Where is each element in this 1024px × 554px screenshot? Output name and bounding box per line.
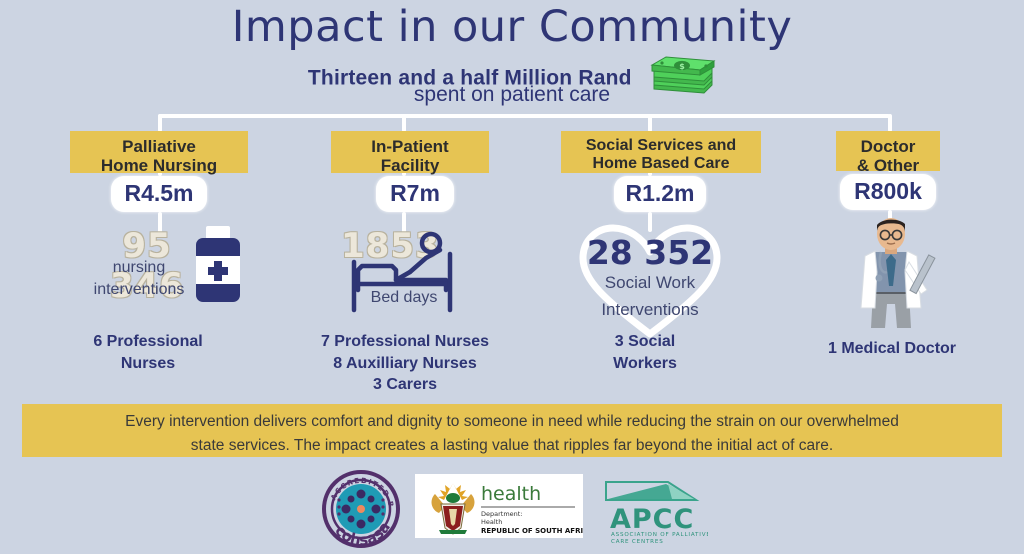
category-label-line2: Facility: [337, 156, 483, 175]
staff-palliative-home-nursing: 6 Professional Nurses: [48, 331, 248, 374]
category-label-line2: Home Nursing: [76, 156, 242, 175]
stat-caption-social-line2: Interventions: [566, 299, 734, 320]
staff-line-3: 3 Carers: [282, 374, 528, 396]
staff-in-patient-facility: 7 Professional Nurses 8 Auxilliary Nurse…: [282, 331, 528, 396]
category-box-social-services[interactable]: Social Services and Home Based Care: [561, 131, 761, 173]
staff-social-services: 3 Social Workers: [565, 331, 725, 374]
staff-line-1: 3 Social: [565, 331, 725, 353]
category-label-line1: In-Patient: [337, 137, 483, 156]
connector-drop-1: [158, 114, 162, 132]
staff-doctor-and-other: 1 Medical Doctor: [800, 338, 984, 360]
medicine-bottle-icon: [190, 226, 246, 313]
apcc-logo: APCC ASSOCIATION OF PALLIATIVE CARE CENT…: [600, 472, 708, 549]
amount-pill-in-patient-facility[interactable]: R7m: [376, 176, 454, 212]
staff-line-1: 1 Medical Doctor: [800, 338, 984, 360]
category-label-line1: Social Services and: [567, 137, 755, 155]
health-line1: Department:: [481, 510, 523, 518]
doctor-illustration-icon: [843, 216, 939, 337]
category-label-line1: Palliative: [76, 137, 242, 156]
amount-pill-doctor-and-other[interactable]: R800k: [840, 174, 936, 210]
sa-department-of-health-logo: health Department: Health REPUBLIC OF SO…: [415, 474, 583, 538]
staff-line-2: 8 Auxilliary Nurses: [282, 353, 528, 375]
stat-caption-nursing-line1: nursing: [72, 258, 206, 278]
health-line3: REPUBLIC OF SOUTH AFRICA: [481, 527, 583, 535]
health-line2: Health: [481, 518, 502, 526]
amount-pill-palliative-home-nursing[interactable]: R4.5m: [111, 176, 207, 212]
subtitle-purpose-text: spent on patient care: [0, 83, 1024, 107]
svg-text:$: $: [679, 62, 685, 71]
banner-line-2: state services. The impact creates a las…: [48, 434, 976, 458]
stat-number-social-work-interventions: 28 352: [578, 233, 722, 272]
connector-drop-3: [648, 114, 652, 132]
logo-row: ACCREDITED BY cohsasa: [0, 466, 1024, 551]
category-label-line2: & Other: [842, 156, 934, 175]
banner-line-1: Every intervention delivers comfort and …: [48, 410, 976, 434]
category-label-line2: Home Based Care: [567, 155, 755, 173]
stat-caption-social-line1: Social Work: [570, 272, 730, 293]
category-label-line1: Doctor: [842, 137, 934, 156]
impact-statement-banner: Every intervention delivers comfort and …: [22, 404, 1002, 457]
page-title: Impact in our Community: [0, 2, 1024, 52]
apcc-line2: CARE CENTRES: [611, 539, 664, 544]
staff-line-2: Workers: [565, 353, 725, 375]
category-box-palliative-home-nursing[interactable]: Palliative Home Nursing: [70, 131, 248, 173]
connector-drop-4: [888, 114, 892, 132]
apcc-word: APCC: [610, 504, 694, 535]
cohsasa-accreditation-logo: ACCREDITED BY cohsasa: [317, 469, 405, 554]
amount-pill-social-services[interactable]: R1.2m: [614, 176, 706, 212]
category-box-in-patient-facility[interactable]: In-Patient Facility: [331, 131, 489, 173]
apcc-line1: ASSOCIATION OF PALLIATIVE: [611, 532, 708, 538]
category-box-doctor-and-other[interactable]: Doctor & Other: [836, 131, 940, 171]
staff-line-1: 6 Professional: [48, 331, 248, 353]
health-word: health: [481, 483, 541, 505]
staff-line-2: Nurses: [48, 353, 248, 375]
staff-line-1: 7 Professional Nurses: [282, 331, 528, 353]
stat-caption-bed-days: Bed days: [348, 288, 460, 308]
connector-horizontal: [158, 114, 890, 118]
connector-drop-2: [402, 114, 406, 132]
